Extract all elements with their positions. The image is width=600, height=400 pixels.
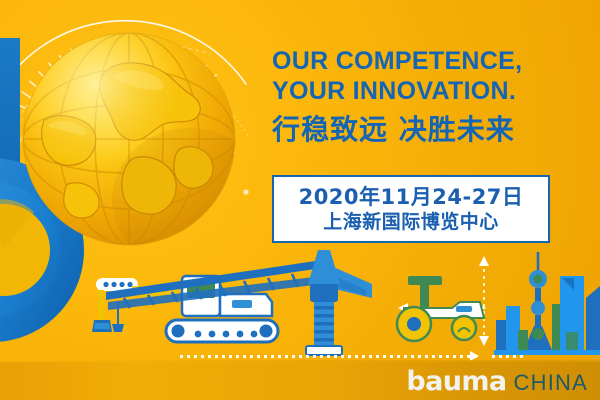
logo-bauma-text: bauma	[406, 368, 506, 395]
date-venue-box: 2020年11月24-27日 上海新国际博览中心	[272, 175, 550, 243]
headline-line-1: OUR COMPETENCE,	[272, 46, 592, 76]
headline-line-2: YOUR INNOVATION.	[272, 76, 592, 106]
headline-block: OUR COMPETENCE, YOUR INNOVATION. 行稳致远 决胜…	[272, 46, 592, 147]
event-date: 2020年11月24-27日	[299, 184, 524, 210]
machinery-scene	[0, 246, 600, 364]
bauma-china-logo: bauma CHINA	[406, 368, 588, 395]
headline-line-chinese: 行稳致远 决胜未来	[272, 113, 592, 147]
dotted-ground-line	[180, 355, 480, 358]
logo-band: bauma CHINA	[0, 362, 600, 400]
shanghai-skyline-icon	[494, 252, 600, 355]
event-venue: 上海新国际博览中心	[323, 210, 499, 234]
dotted-ground-line-right	[492, 355, 526, 358]
road-roller-icon	[397, 276, 484, 341]
golden-globe-icon	[14, 24, 244, 254]
logo-china-text: CHINA	[514, 372, 588, 394]
bauma-china-banner: OUR COMPETENCE, YOUR INNOVATION. 行稳致远 决胜…	[0, 0, 600, 400]
